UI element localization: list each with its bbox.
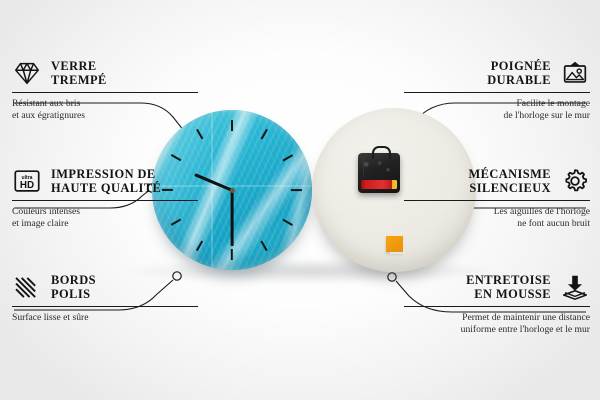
feature-verre-trempe: VERRE TREMPÉ Résistant aux bris et aux é… <box>12 58 198 121</box>
hour-tick <box>291 189 302 191</box>
polished-edges-icon <box>12 272 42 302</box>
feature-header: ultra HD IMPRESSION DE HAUTE QUALITÉ <box>12 166 198 196</box>
feature-subtitle: Les aiguilles de l'horloge ne font aucun… <box>404 206 590 229</box>
feature-header: VERRE TREMPÉ <box>12 58 198 88</box>
clock-mechanism <box>358 153 400 193</box>
foam-spacer <box>386 236 403 252</box>
mechanism-detail <box>363 159 395 177</box>
feature-impression-haute-qualite: ultra HD IMPRESSION DE HAUTE QUALITÉ Cou… <box>12 166 198 229</box>
feature-title: ENTRETOISE EN MOUSSE <box>466 273 551 302</box>
feature-poignee-durable: POIGNÉE DURABLE Facilite le montage de l… <box>404 58 590 121</box>
svg-text:HD: HD <box>20 180 34 191</box>
feature-subtitle: Résistant aux bris et aux égratignures <box>12 98 198 121</box>
hour-tick <box>231 249 233 260</box>
feature-header: BORDS POLIS <box>12 272 198 302</box>
feature-header: MÉCANISME SILENCIEUX <box>404 166 590 196</box>
infographic-stage: VERRE TREMPÉ Résistant aux bris et aux é… <box>0 0 600 400</box>
feature-subtitle: Facilite le montage de l'horloge sur le … <box>404 98 590 121</box>
feature-subtitle: Couleurs intenses et image claire <box>12 206 198 229</box>
ultra-hd-icon: ultra HD <box>12 166 42 196</box>
feature-bords-polis: BORDS POLIS Surface lisse et sûre <box>12 272 198 324</box>
feature-title: MÉCANISME SILENCIEUX <box>468 167 551 196</box>
feature-divider <box>404 200 590 201</box>
hanging-frame-icon <box>560 58 590 88</box>
hanging-loop <box>372 146 391 159</box>
battery <box>361 180 397 189</box>
feature-mecanisme-silencieux: MÉCANISME SILENCIEUX Les aiguilles de l'… <box>404 166 590 229</box>
feature-header: ENTRETOISE EN MOUSSE <box>404 272 590 302</box>
feature-title: POIGNÉE DURABLE <box>487 59 551 88</box>
feature-header: POIGNÉE DURABLE <box>404 58 590 88</box>
feature-divider <box>12 92 198 93</box>
feature-divider <box>12 200 198 201</box>
feature-subtitle: Permet de maintenir une distance uniform… <box>404 312 590 335</box>
gear-icon <box>560 166 590 196</box>
feature-entretoise-en-mousse: ENTRETOISE EN MOUSSE Permet de maintenir… <box>404 272 590 335</box>
hour-tick <box>231 120 233 131</box>
feature-divider <box>404 306 590 307</box>
diamond-icon <box>12 58 42 88</box>
clock-hand-cap <box>230 188 235 193</box>
feature-title: BORDS POLIS <box>51 273 96 302</box>
clock-minute-hand <box>231 190 234 246</box>
feature-title: VERRE TREMPÉ <box>51 59 107 88</box>
foam-spacer-icon <box>560 272 590 302</box>
feature-divider <box>404 92 590 93</box>
feature-title: IMPRESSION DE HAUTE QUALITÉ <box>51 167 161 196</box>
feature-subtitle: Surface lisse et sûre <box>12 312 198 324</box>
feature-divider <box>12 306 198 307</box>
